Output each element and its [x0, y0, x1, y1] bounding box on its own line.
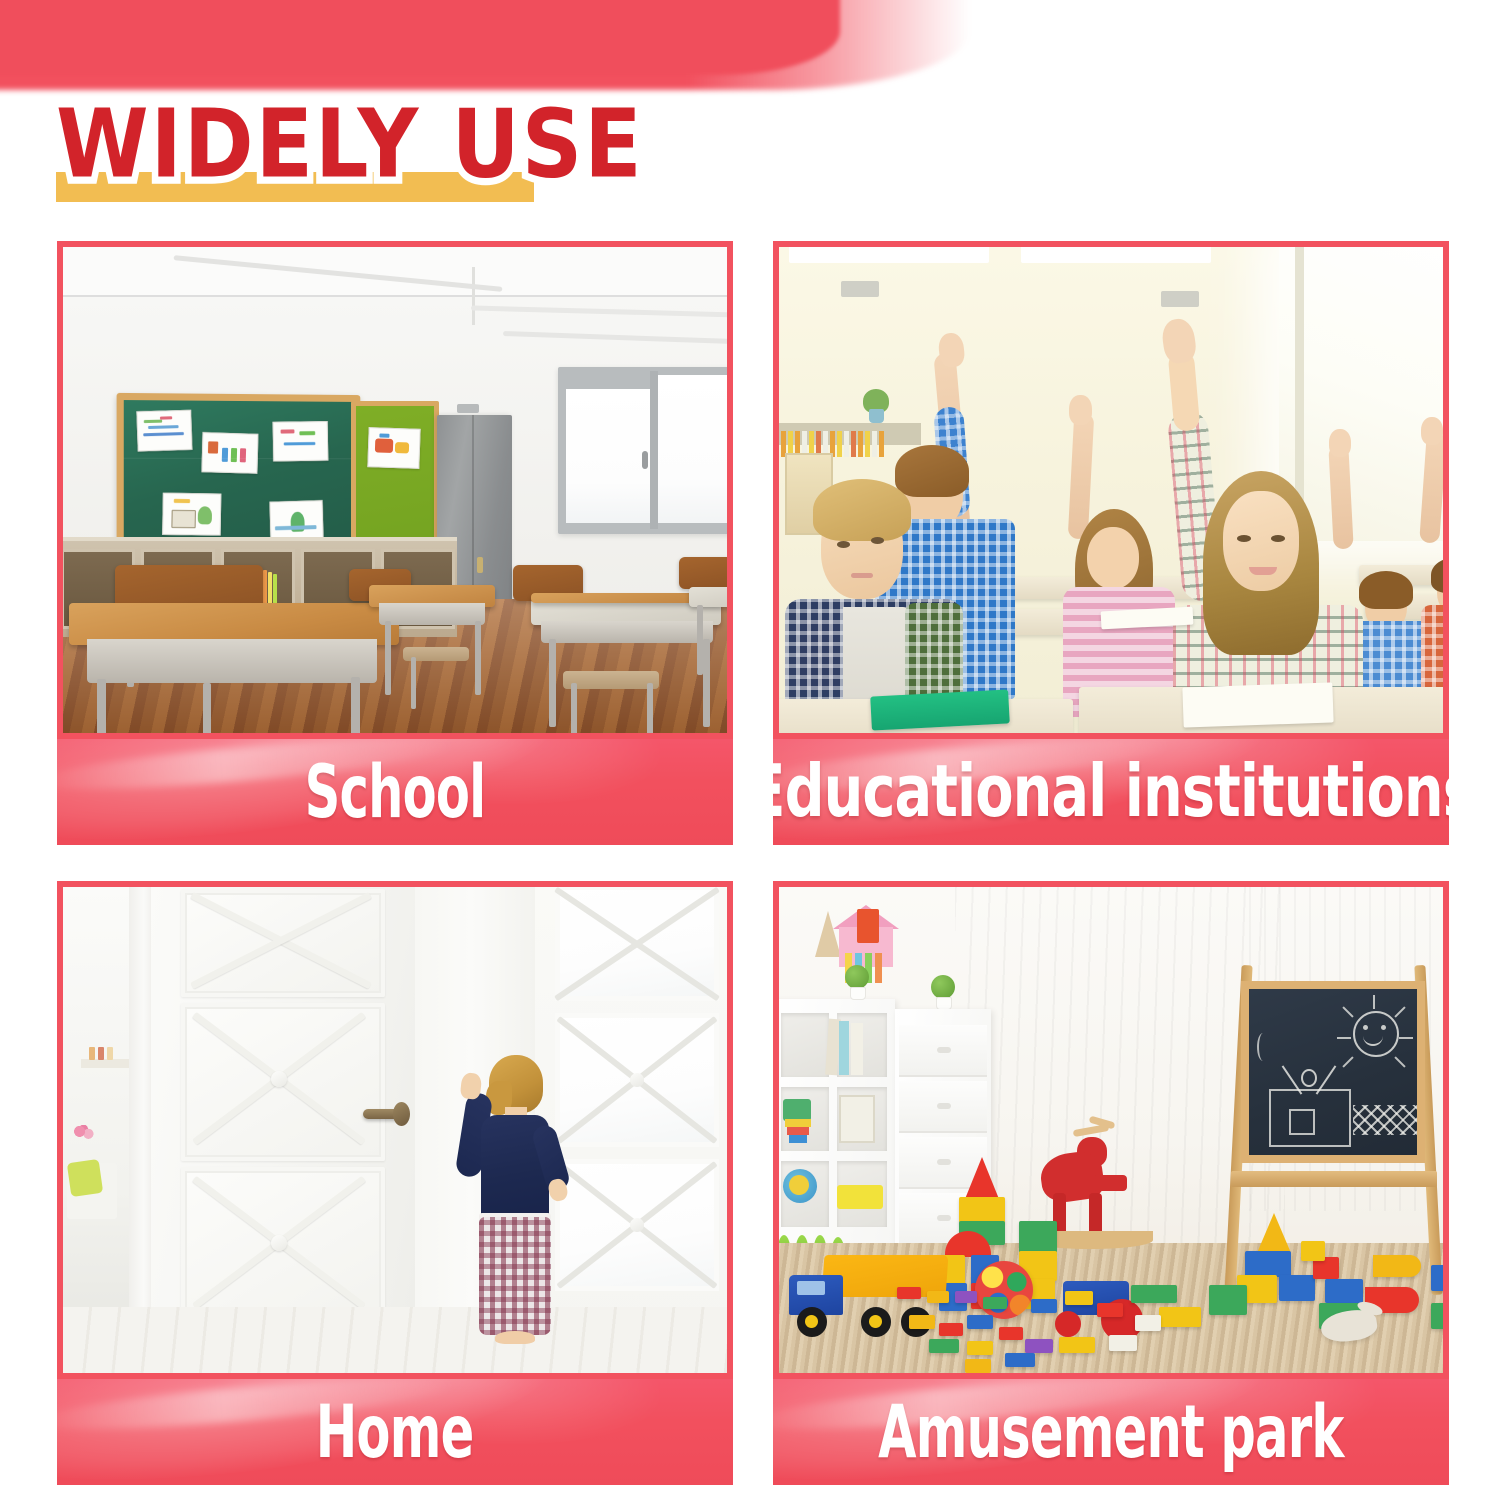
cylinder-block — [1373, 1255, 1421, 1277]
classroom-window — [558, 367, 727, 534]
lego-brick — [1025, 1339, 1053, 1353]
raised-hand — [937, 332, 965, 368]
toy-basket — [837, 1185, 883, 1209]
plant-pot — [869, 409, 884, 423]
block — [1019, 1221, 1057, 1253]
lego-brick — [999, 1327, 1023, 1340]
yellow-cone-block — [1257, 1213, 1291, 1253]
wooden-floor — [63, 1307, 727, 1373]
block — [959, 1197, 1005, 1223]
lego-brick — [897, 1287, 921, 1299]
book — [839, 1095, 875, 1143]
panel-home[interactable]: Home — [57, 881, 733, 1485]
boy-mouth — [851, 573, 873, 578]
truck-wheel — [861, 1307, 891, 1337]
room-shelf — [81, 1059, 129, 1068]
drawer-knob — [937, 1103, 951, 1109]
window-pane-left — [566, 389, 650, 523]
chalk-roof-vent — [1301, 1069, 1317, 1087]
book — [839, 1021, 849, 1075]
lego-brick — [967, 1341, 993, 1355]
lego-brick — [939, 1323, 963, 1336]
easel-chalk-tray — [1231, 1171, 1437, 1187]
lego-brick — [967, 1315, 993, 1329]
block — [1431, 1265, 1443, 1291]
red-cone-block — [965, 1157, 999, 1199]
window-mullion — [650, 371, 658, 529]
gear-toy-center — [789, 1175, 809, 1195]
truck-window — [797, 1281, 825, 1295]
child-bare-foot — [495, 1331, 535, 1344]
panel-amusement-park-caption: Amusement park — [773, 1379, 1449, 1485]
lego-brick — [1135, 1315, 1161, 1331]
toy — [783, 1099, 811, 1121]
panel-amusement-park-caption-text: Amusement park — [878, 1394, 1343, 1470]
open-notebook — [1182, 682, 1333, 727]
truck-wheel — [797, 1307, 827, 1337]
block — [1279, 1275, 1315, 1301]
lego-brick — [983, 1297, 1007, 1309]
girl-smile — [1249, 567, 1277, 575]
door-panel-middle — [181, 1003, 385, 1161]
lego-brick — [965, 1359, 991, 1373]
child-drawing — [162, 493, 221, 536]
lego-brick — [909, 1315, 935, 1329]
shelf-jars — [89, 1047, 113, 1060]
block — [1245, 1251, 1291, 1277]
shelf-cube — [781, 1013, 829, 1077]
girl-eye-right — [1271, 535, 1285, 542]
glass-pane-middle — [555, 1013, 719, 1147]
topiary — [845, 965, 869, 989]
lego-brick — [1131, 1285, 1177, 1303]
child-drawing — [201, 432, 258, 474]
student-hair — [1359, 571, 1413, 609]
ceiling-vent — [1161, 291, 1199, 307]
lego-brick — [1109, 1335, 1137, 1351]
student-hair — [1431, 557, 1443, 593]
window-pane-right — [658, 375, 727, 523]
moose-seat — [1093, 1175, 1127, 1191]
window-handle — [642, 451, 648, 469]
chalk-sun — [1353, 1011, 1399, 1057]
topiary — [931, 975, 955, 999]
lego-brick — [927, 1291, 949, 1303]
block — [1301, 1241, 1325, 1261]
glass-pane-bottom — [555, 1159, 719, 1291]
scene-playroom-with-toys — [779, 887, 1443, 1373]
panel-home-photo — [57, 881, 733, 1379]
child-drawing — [367, 427, 420, 469]
flowers — [73, 1125, 95, 1141]
tractor-front-wheel — [1055, 1311, 1081, 1337]
green-cushion — [67, 1159, 103, 1197]
ceiling-light — [789, 247, 989, 263]
ceiling — [63, 247, 727, 299]
adjacent-room — [63, 887, 135, 1317]
panel-amusement-park-photo — [773, 881, 1449, 1379]
ceiling-vent — [841, 281, 879, 297]
cube-shelf-unit — [779, 999, 895, 1279]
girl-eye-left — [1237, 535, 1251, 542]
drawer-knob — [937, 1159, 951, 1165]
child-figure — [455, 1055, 567, 1345]
green-wall-panel — [351, 401, 439, 559]
door-jamb — [129, 887, 153, 1339]
stacking-ring — [789, 1135, 807, 1143]
girl-raised-hand — [1160, 317, 1198, 365]
lego-brick — [955, 1291, 977, 1303]
wall-corner-line — [472, 267, 475, 325]
door-panel-top — [181, 889, 385, 997]
green-folder — [870, 689, 1010, 730]
boy-eye-left — [837, 541, 850, 548]
student-face — [1087, 527, 1139, 589]
chalk-squiggle — [1257, 1033, 1269, 1061]
scene-students-raising-hands — [779, 247, 1443, 733]
panel-educational-institutions-photo — [773, 241, 1449, 739]
colorful-ball — [975, 1261, 1033, 1319]
chalk-house-window — [1289, 1109, 1315, 1135]
panel-amusement-park[interactable]: Amusement park — [773, 881, 1449, 1485]
header-brush-band-core — [0, 0, 840, 75]
drawer-knob — [937, 1047, 951, 1053]
boy-eye-right — [871, 537, 884, 544]
chalk-sun-eye — [1363, 1025, 1368, 1030]
raised-hand — [1069, 395, 1092, 425]
scene-child-at-white-door — [63, 887, 727, 1373]
stacking-ring — [787, 1127, 809, 1135]
book — [851, 1023, 863, 1075]
child-drawing — [269, 500, 323, 540]
panel-home-caption: Home — [57, 1379, 733, 1485]
lego-brick — [1005, 1353, 1035, 1367]
child-checked-pajama-pants — [479, 1217, 551, 1335]
girl-face — [1223, 491, 1299, 591]
glass-pane-top — [555, 887, 719, 1001]
widely-use-infographic: WIDELY USE — [0, 0, 1500, 1500]
door-panel-bottom — [181, 1167, 385, 1323]
panel-school-caption: School — [57, 739, 733, 845]
easel-chalkboard — [1241, 981, 1425, 1163]
toy-box — [857, 909, 879, 943]
panel-school-photo — [57, 241, 733, 739]
chalk-sun-eye — [1381, 1025, 1386, 1030]
boy-hair — [813, 479, 911, 541]
lego-brick — [929, 1339, 959, 1353]
lego-brick — [1159, 1307, 1201, 1327]
locker-vent — [457, 404, 479, 413]
page-title: WIDELY USE — [56, 86, 644, 202]
panel-educational-institutions-caption-text: Educational institutions — [773, 754, 1449, 831]
chalk-fence — [1353, 1105, 1417, 1135]
child-drawing — [136, 410, 192, 452]
lego-brick — [1059, 1337, 1095, 1353]
door-handle-base — [393, 1102, 410, 1126]
block — [1325, 1279, 1363, 1303]
panel-school-caption-text: School — [305, 754, 486, 830]
panel-educational-institutions-caption: Educational institutions — [773, 739, 1449, 845]
ceiling-light — [1021, 247, 1211, 263]
panel-school[interactable]: School — [57, 241, 733, 845]
student-hair — [895, 445, 969, 497]
panel-grid: School — [57, 241, 1449, 1485]
lego-brick — [1097, 1303, 1123, 1317]
raised-hand — [1421, 417, 1443, 445]
lego-brick — [1065, 1291, 1093, 1305]
panel-home-caption-text: Home — [316, 1394, 474, 1470]
block — [1209, 1285, 1247, 1315]
panel-educational-institutions[interactable]: Educational institutions — [773, 241, 1449, 845]
topiary-pot — [850, 987, 866, 1000]
scene-empty-classroom — [63, 247, 727, 733]
stacking-ring — [785, 1119, 811, 1127]
child-drawing — [272, 421, 328, 461]
block — [1431, 1303, 1443, 1329]
raised-hand — [1329, 429, 1351, 457]
lego-brick — [1031, 1299, 1057, 1313]
dollhouse-window — [875, 953, 882, 983]
drawer-knob — [937, 1215, 951, 1221]
